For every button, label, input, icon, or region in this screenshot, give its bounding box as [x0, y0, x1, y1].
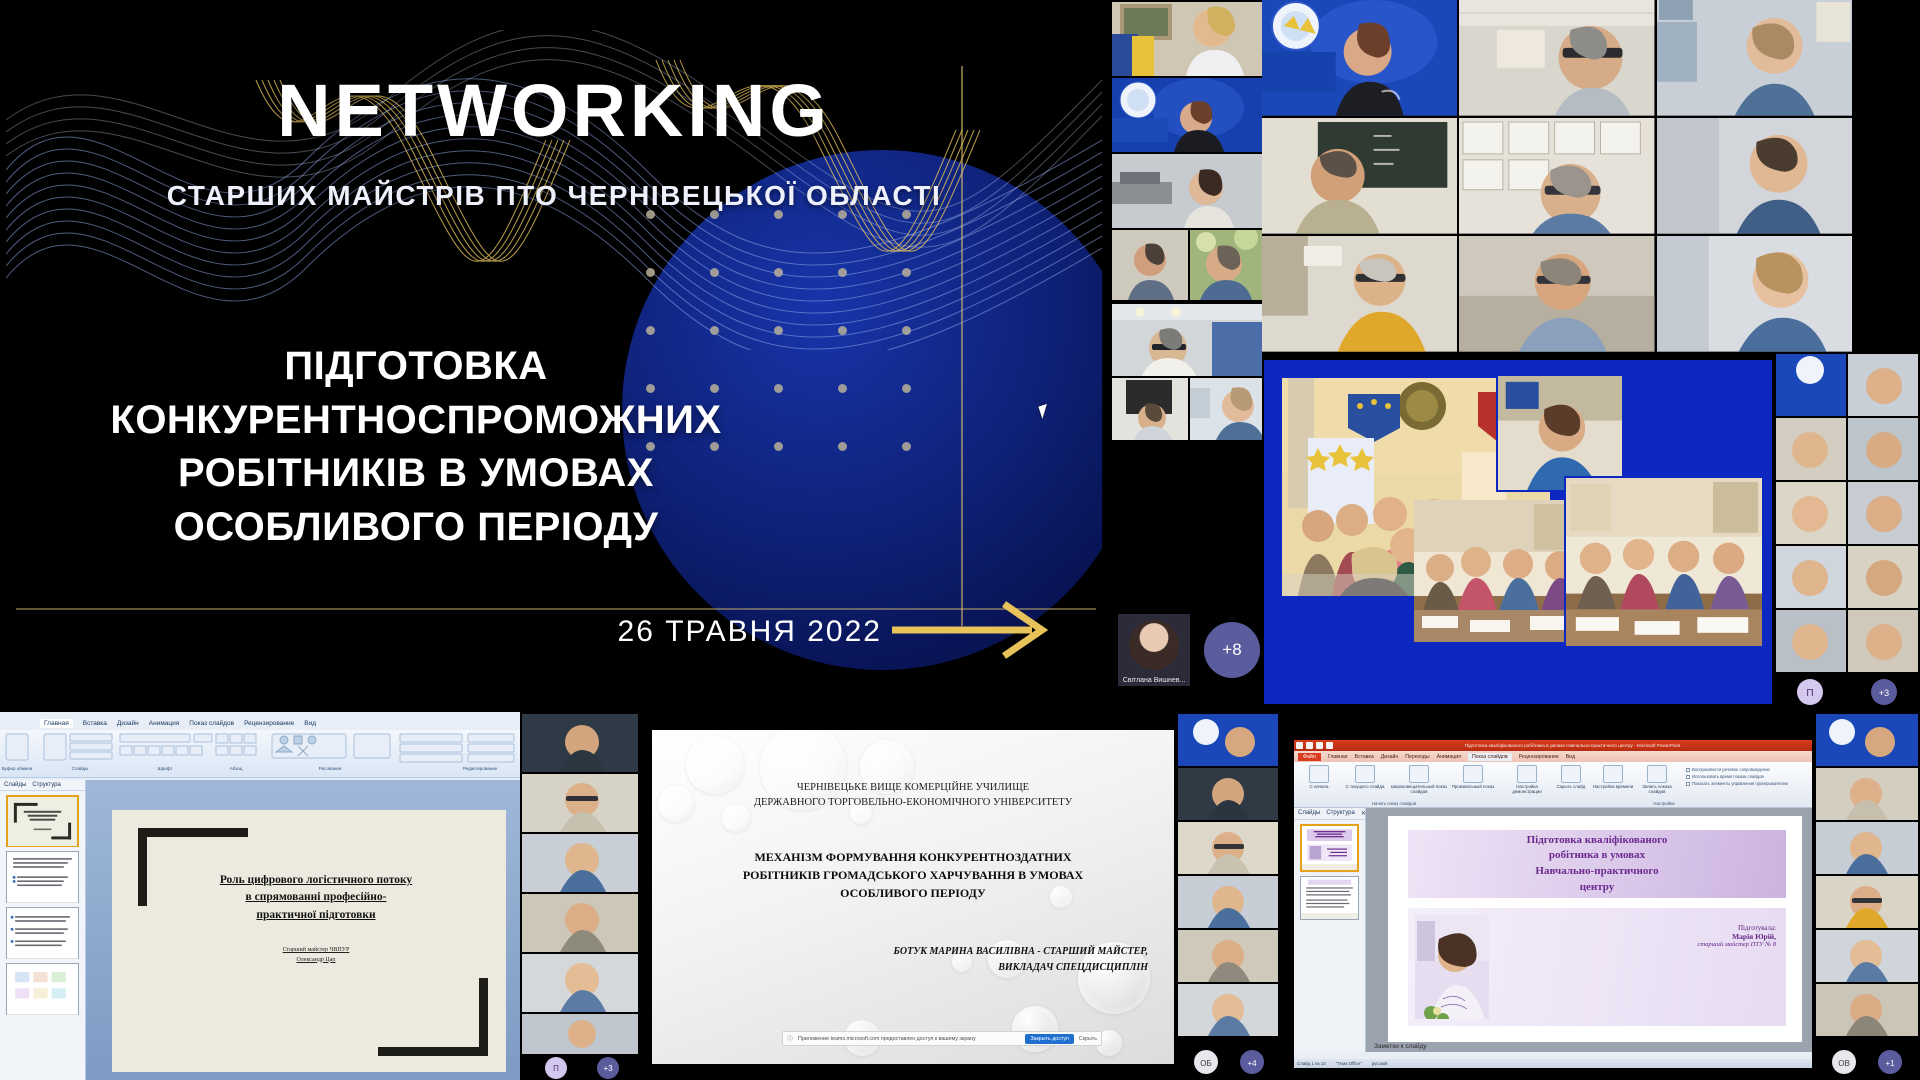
collage-photo — [1564, 476, 1764, 648]
tab-insert[interactable]: Вставка — [1355, 754, 1374, 760]
slide-editor-canvas[interactable]: Роль цифрового логістичного потоку в спр… — [86, 780, 520, 1080]
slide-body: ПІДГОТОВКА КОНКУРЕНТНОСПРОМОЖНИХ РОБІТНИ… — [46, 340, 786, 554]
overflow-participants-badge[interactable]: +8 — [1204, 622, 1260, 678]
svg-text:ОВ: ОВ — [1838, 1059, 1850, 1068]
checkbox[interactable] — [1686, 768, 1690, 772]
slide-author-line-2: Олександр Цап — [152, 956, 480, 966]
slide-body-line-1: ПІДГОТОВКА — [46, 340, 786, 394]
filmstrip-tile[interactable] — [1112, 2, 1262, 76]
checkbox-label: Воспроизвести речевое сопровождение — [1692, 767, 1770, 772]
ribbon-group-label: Настройка — [1544, 801, 1784, 806]
screen-share-notification-bar[interactable]: ⓘ Приложение teams.microsoft.com предост… — [782, 1031, 1102, 1046]
svg-text:+1: +1 — [1885, 1059, 1895, 1068]
panel-powerpoint-2010: Підготовка кваліфікованого робітника в у… — [1280, 712, 1920, 1080]
panel-main-presentation: NETWORKING СТАРШИХ МАЙСТРІВ ПТО ЧЕРНІВЕЦ… — [0, 0, 1262, 712]
svg-text:П: П — [553, 1064, 559, 1073]
slide-title-line-1: МЕХАНІЗМ ФОРМУВАННЯ КОНКУРЕНТНОЗДАТНИХ — [682, 848, 1144, 866]
ribbon-tab-bar[interactable]: Главная Вставка Дизайн Анимация Показ сл… — [0, 716, 520, 730]
undo-icon[interactable] — [1316, 742, 1323, 749]
slide-thumbnail[interactable] — [1300, 876, 1359, 920]
slide-pane-tabs[interactable]: Слайды Структура — [0, 780, 85, 791]
redo-icon[interactable] — [1326, 742, 1333, 749]
slide-thumbnail[interactable] — [6, 851, 79, 903]
window-title: Підготовка кваліфікованого робітника в у… — [1333, 743, 1812, 748]
status-language: русский — [1372, 1061, 1388, 1066]
video-tile[interactable] — [1459, 0, 1654, 116]
slide-thumbnail[interactable] — [6, 907, 79, 959]
tab-home[interactable]: Главная — [40, 719, 73, 728]
slide-editor-canvas[interactable]: Підготовка кваліфікованого робітника в у… — [1366, 808, 1812, 1052]
slide-title-line-2: в спрямованні професійно- — [152, 889, 480, 906]
video-tile[interactable] — [1657, 236, 1852, 352]
slide-author-text: Старший майстер ЧВПУР Олександр Цап — [152, 946, 480, 965]
participant-filmstrip[interactable]: Світлана Вишнев... +8 — [1110, 0, 1262, 712]
rehearse-timings-icon — [1603, 765, 1623, 783]
filmstrip-tile[interactable] — [1112, 378, 1188, 440]
slide-author-line-1: Старший майстер ЧВПУР — [152, 946, 480, 956]
checkbox-label: Показать элементы управления проигрывате… — [1692, 781, 1788, 786]
slide-body-line-2: КОНКУРЕНТНОСПРОМОЖНИХ — [46, 394, 786, 448]
from-beginning-icon — [1309, 765, 1329, 783]
panel-e-filmstrip[interactable]: ОБ +4 — [1176, 712, 1280, 1080]
checkbox[interactable] — [1686, 775, 1690, 779]
ribbon-button-label: Произвольный показ — [1450, 784, 1496, 789]
custom-slideshow-icon — [1463, 765, 1483, 783]
tab-slideshow[interactable]: Показ слайдов — [1468, 753, 1512, 761]
video-tile[interactable] — [1459, 118, 1654, 234]
tab-transitions[interactable]: Переходы — [1405, 754, 1429, 760]
slide-thumbnail[interactable] — [6, 963, 79, 1015]
self-tile-name: Світлана Вишнев... — [1120, 677, 1188, 684]
slide-title-line-3: Навчально-практичного — [1527, 864, 1668, 880]
slide-title-line-3: практичної підготовки — [152, 907, 480, 924]
ribbon-tab-bar[interactable]: Файл Главная Вставка Дизайн Переходы Ани… — [1294, 751, 1812, 762]
tab-design[interactable]: Дизайн — [1381, 754, 1398, 760]
hide-slide-icon — [1561, 765, 1581, 783]
status-theme: "Тема Office" — [1336, 1061, 1362, 1066]
slide-pane[interactable]: Слайды Структура — [0, 780, 86, 1080]
svg-text:Абзац: Абзац — [230, 766, 243, 771]
slide-bracket-top-left — [138, 828, 248, 837]
avatar — [1129, 620, 1179, 670]
filmstrip-tile[interactable] — [1112, 230, 1188, 300]
slide-org-line-2: ДЕРЖАВНОГО ТОРГОВЕЛЬНО-ЕКОНОМІЧНОГО УНІВ… — [692, 795, 1134, 810]
slide-arrow-icon — [892, 590, 1072, 660]
slide-pane[interactable]: Слайды Структура ✕ — [1294, 808, 1366, 1052]
tab-view[interactable]: Вид — [304, 720, 316, 727]
video-tile[interactable] — [1657, 118, 1852, 234]
screenshot-collage: NETWORKING СТАРШИХ МАЙСТРІВ ПТО ЧЕРНІВЕЦ… — [0, 0, 1920, 1080]
tab-insert[interactable]: Вставка — [83, 720, 107, 727]
svg-text:+3: +3 — [1879, 688, 1889, 698]
slide-author-line-2: Марія Юрій, — [1496, 932, 1776, 941]
tab-review[interactable]: Рецензирование — [244, 720, 294, 727]
svg-text:Шрифт: Шрифт — [158, 766, 173, 771]
slide-title: NETWORKING — [6, 68, 1102, 153]
ribbon-button-custom-show[interactable]: Произвольный показ — [1450, 765, 1496, 789]
ribbon-button-label: Широковещательный показ слайдов — [1390, 784, 1448, 794]
networking-slide: NETWORKING СТАРШИХ МАЙСТРІВ ПТО ЧЕРНІВЕЦ… — [6, 30, 1102, 678]
broadcast-slideshow-icon — [1409, 765, 1429, 783]
video-tile[interactable] — [1262, 0, 1457, 116]
quick-access-toolbar[interactable] — [1294, 742, 1333, 749]
slide-date: 26 ТРАВНЯ 2022 — [6, 615, 882, 649]
slide-thumbnail[interactable] — [1300, 824, 1359, 872]
slide-surface[interactable]: Роль цифрового логістичного потоку в спр… — [112, 810, 506, 1072]
ribbon-button-label: Настройка времени — [1592, 784, 1634, 789]
self-video-tile[interactable]: Світлана Вишнев... — [1118, 614, 1190, 686]
ribbon-button-broadcast[interactable]: Широковещательный показ слайдов — [1390, 765, 1448, 794]
tab-slideshow[interactable]: Показ слайдов — [189, 720, 234, 727]
tab-file[interactable]: Файл — [1298, 753, 1321, 761]
filmstrip-tile[interactable] — [1112, 154, 1262, 228]
svg-text:П: П — [1806, 688, 1813, 699]
setup-show-icon — [1517, 765, 1537, 783]
tab-animation[interactable]: Анимация — [1437, 754, 1461, 760]
tab-animation[interactable]: Анимация — [149, 720, 180, 727]
record-slideshow-icon — [1647, 765, 1667, 783]
ribbon[interactable]: Буфер обмена Слайды Шрифт Абзац Рисовани… — [0, 730, 520, 778]
stop-sharing-button[interactable]: Закрыть доступ — [1025, 1034, 1074, 1044]
ribbon-group-label: Начать показ слайдов — [1304, 801, 1484, 806]
share-message: Приложение teams.microsoft.com предостав… — [798, 1036, 1020, 1042]
svg-text:Слайды: Слайды — [72, 765, 89, 771]
ribbon-button-label: Настройка демонстрации — [1506, 784, 1548, 794]
slide-organization: ЧЕРНІВЕЦЬКЕ ВИЩЕ КОМЕРЦІЙНЕ УЧИЛИЩЕ ДЕРЖ… — [692, 780, 1134, 810]
tab-home[interactable]: Главная — [1328, 754, 1348, 760]
slide-bracket-bottom-right — [378, 1047, 488, 1056]
svg-text:Редактирование: Редактирование — [463, 766, 498, 771]
svg-text:Буфер обмена: Буфер обмена — [2, 766, 33, 771]
slide-title-text: Роль цифрового логістичного потоку в спр… — [152, 872, 480, 924]
video-tile[interactable] — [1262, 118, 1457, 234]
svg-text:+4: +4 — [1247, 1059, 1257, 1068]
slide-title-line-3: ОСОБЛИВОГО ПЕРІОДУ — [682, 884, 1144, 902]
ribbon-button-rehearse-timings[interactable]: Настройка времени — [1592, 765, 1634, 789]
ribbon-button-label: С начала — [1296, 784, 1342, 789]
slide-author-text: БОТУК МАРИНА ВАСИЛІВНА - СТАРШИЙ МАЙСТЕР… — [712, 944, 1148, 976]
title-bar: Підготовка кваліфікованого робітника в у… — [1294, 740, 1812, 751]
svg-text:+3: +3 — [603, 1064, 613, 1073]
status-bar: Слайд 1 из 10 "Тема Office" русский — [1294, 1059, 1812, 1068]
ribbon-button-label: С текущего слайда — [1342, 784, 1388, 789]
powerpoint-window: Главная Вставка Дизайн Анимация Показ сл… — [0, 712, 520, 1080]
presentation-slide: ЧЕРНІВЕЦЬКЕ ВИЩЕ КОМЕРЦІЙНЕ УЧИЛИЩЕ ДЕРЖ… — [652, 730, 1174, 1064]
panel-photo-collage: П +3 — [1262, 352, 1920, 712]
slide-author-line-2: ВИКЛАДАЧ СПЕЦДИСЦИПЛІН — [712, 960, 1148, 976]
ribbon-button-hide-slide[interactable]: Скрыть слайд — [1552, 765, 1590, 789]
slide-title-text: Підготовка кваліфікованого робітника в у… — [1527, 833, 1668, 895]
from-current-slide-icon — [1355, 765, 1375, 783]
powerpoint-icon — [1296, 742, 1303, 749]
filmstrip-tile[interactable] — [1112, 304, 1262, 376]
filmstrip-tile[interactable] — [1112, 78, 1262, 152]
panel-shared-browser-slide: ЧЕРНІВЕЦЬКЕ ВИЩЕ КОМЕРЦІЙНЕ УЧИЛИЩЕ ДЕРЖ… — [640, 712, 1280, 1080]
ribbon-button-from-current[interactable]: С текущего слайда — [1342, 765, 1388, 789]
pane-tab-outline[interactable]: Структура — [1326, 810, 1354, 817]
filmstrip-tile[interactable] — [1190, 378, 1262, 440]
slide-vertical-rule — [961, 66, 963, 626]
slide-thumbnail[interactable] — [6, 795, 79, 847]
slide-subtitle: СТАРШИХ МАЙСТРІВ ПТО ЧЕРНІВЕЦЬКОЇ ОБЛАСТ… — [6, 180, 1102, 212]
slide-author-line-1: БОТУК МАРИНА ВАСИЛІВНА - СТАРШИЙ МАЙСТЕР… — [712, 944, 1148, 960]
tab-view[interactable]: Вид — [1566, 754, 1575, 760]
slide-author-block: Підготувала: Марія Юрій, старший майстер… — [1496, 908, 1786, 1026]
video-grid[interactable] — [1262, 0, 1852, 352]
ribbon[interactable]: С начала С текущего слайда Широковещател… — [1294, 762, 1812, 808]
slide-title-line-4: центру — [1527, 880, 1668, 896]
slide-author-line-3: старший майстер ПТУ № 8 — [1496, 941, 1776, 948]
slide-title-text: МЕХАНІЗМ ФОРМУВАННЯ КОНКУРЕНТНОЗДАТНИХ Р… — [682, 848, 1144, 902]
ribbon-checkbox-group[interactable]: Воспроизвести речевое сопровождение Испо… — [1686, 767, 1796, 786]
svg-text:ОБ: ОБ — [1200, 1059, 1211, 1068]
slide-author-line-1: Підготувала: — [1496, 924, 1776, 932]
svg-text:Рисование: Рисование — [319, 766, 342, 771]
bubble-decor — [658, 786, 694, 822]
pane-tab-outline[interactable]: Структура — [32, 782, 60, 788]
panel-f-filmstrip[interactable]: ОВ +1 — [1814, 712, 1920, 1080]
checkbox[interactable] — [1686, 782, 1690, 786]
info-icon: ⓘ — [787, 1034, 793, 1043]
pane-tab-slides[interactable]: Слайды — [1298, 810, 1320, 817]
slide-title-line-1: Роль цифрового логістичного потоку — [152, 872, 480, 889]
slide-title-line-2: РОБІТНИКІВ ГРОМАДСЬКОГО ХАРЧУВАННЯ В УМО… — [682, 866, 1144, 884]
self-tile-row: Світлана Вишнев... +8 — [1110, 608, 1262, 700]
slide-bracket-top-left-vertical — [138, 828, 147, 906]
ribbon-button-setup-show[interactable]: Настройка демонстрации — [1506, 765, 1548, 794]
slide-org-line-1: ЧЕРНІВЕЦЬКЕ ВИЩЕ КОМЕРЦІЙНЕ УЧИЛИЩЕ — [692, 780, 1134, 795]
hide-link[interactable]: Скрыть — [1079, 1036, 1097, 1042]
collage-photo — [1496, 374, 1624, 492]
ribbon-button-label: Скрыть слайд — [1552, 784, 1590, 789]
photo-collage — [1264, 360, 1772, 704]
ribbon-button-record-slideshow[interactable]: Запись показа слайдов — [1636, 765, 1678, 794]
slide-title-line-1: Підготовка кваліфікованого — [1527, 833, 1668, 849]
ribbon-button-label: Запись показа слайдов — [1636, 784, 1678, 794]
panel-d-filmstrip[interactable]: П +3 — [520, 712, 640, 1080]
slide-title-placeholder[interactable]: Підготовка кваліфікованого робітника в у… — [1408, 830, 1786, 898]
slide-bracket-bottom-right-vertical — [479, 978, 488, 1056]
panel-powerpoint-2007: Главная Вставка Дизайн Анимация Показ сл… — [0, 712, 640, 1080]
notes-placeholder[interactable]: Заметки к слайду — [1374, 1043, 1427, 1050]
slide-body-placeholder[interactable]: Підготувала: Марія Юрій, старший майстер… — [1408, 908, 1786, 1026]
slide-title-line-2: робітника в умовах — [1527, 848, 1668, 864]
video-tile[interactable] — [1657, 0, 1852, 116]
tab-design[interactable]: Дизайн — [117, 720, 139, 727]
video-tile[interactable] — [1262, 236, 1457, 352]
status-slide-number: Слайд 1 из 10 — [1297, 1061, 1326, 1066]
tab-review[interactable]: Рецензирование — [1519, 754, 1559, 760]
filmstrip-tile[interactable] — [1190, 230, 1262, 300]
slide-pane-tabs[interactable]: Слайды Структура ✕ — [1294, 808, 1365, 820]
checkbox-label: Использовать время показа слайдов — [1692, 774, 1764, 779]
slide-body-line-4: ОСОБЛИВОГО ПЕРІОДУ — [46, 501, 786, 555]
powerpoint-2010-window: Підготовка кваліфікованого робітника в у… — [1294, 740, 1812, 1068]
pane-tab-slides[interactable]: Слайды — [4, 782, 26, 788]
slide-portrait-photo — [1415, 915, 1489, 1019]
video-tile[interactable] — [1459, 236, 1654, 352]
slide-surface[interactable]: Підготовка кваліфікованого робітника в у… — [1388, 816, 1802, 1042]
save-icon[interactable] — [1306, 742, 1313, 749]
ribbon-button-from-beginning[interactable]: С начала — [1296, 765, 1342, 789]
panel-video-grid: ГІ Гончарський ВП... СП Семенюк П... ЮО … — [1262, 0, 1920, 352]
slide-body-line-3: РОБІТНИКІВ В УМОВАХ — [46, 447, 786, 501]
collage-side-filmstrip[interactable]: П +3 — [1774, 352, 1920, 712]
